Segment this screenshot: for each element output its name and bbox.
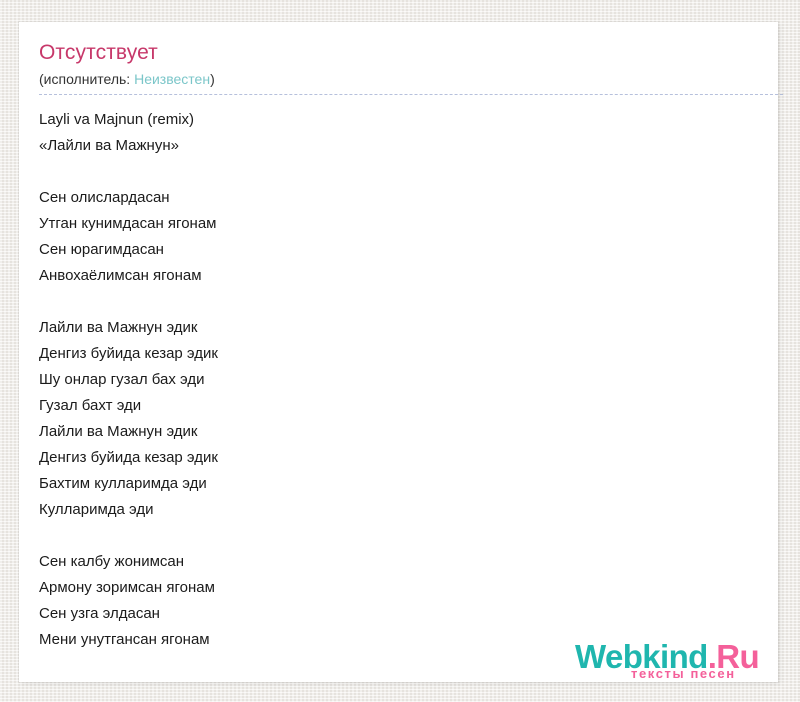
lyrics-line: Утган кунимдасан ягонам xyxy=(39,211,758,237)
header-divider xyxy=(39,94,783,95)
lyrics-content-panel: Отсутствует (исполнитель: Неизвестен) La… xyxy=(19,22,778,682)
page-root: Отсутствует (исполнитель: Неизвестен) La… xyxy=(0,0,800,702)
lyrics-verse: Сен олислардасанУтган кунимдасан ягонамС… xyxy=(39,185,758,289)
lyrics-line: Анвохаёлимсан ягонам xyxy=(39,263,758,289)
lyrics-line: Армону зоримсан ягонам xyxy=(39,575,758,601)
lyrics-line: Лайли ва Мажнун эдик xyxy=(39,315,758,341)
lyrics-line: Сен калбу жонимсан xyxy=(39,549,758,575)
song-header: Отсутствует (исполнитель: Неизвестен) xyxy=(19,22,778,89)
lyrics-line: Layli va Majnun (remix) xyxy=(39,107,758,133)
lyrics-line: Бахтим кулларимда эди xyxy=(39,471,758,497)
lyrics-line: Гузал бахт эди xyxy=(39,393,758,419)
lyrics-line: Шу онлар гузал бах эди xyxy=(39,367,758,393)
artist-line: (исполнитель: Неизвестен) xyxy=(39,70,758,89)
lyrics-verse: Layli va Majnun (remix)«Лайли ва Мажнун» xyxy=(39,107,758,159)
artist-link[interactable]: Неизвестен xyxy=(134,71,210,87)
lyrics-text: Layli va Majnun (remix)«Лайли ва Мажнун»… xyxy=(19,95,778,653)
lyrics-line: Сен олислардасан xyxy=(39,185,758,211)
lyrics-line: «Лайли ва Мажнун» xyxy=(39,133,758,159)
lyrics-line: Денгиз буйида кезар эдик xyxy=(39,341,758,367)
artist-label: (исполнитель: xyxy=(39,71,130,87)
site-watermark: Webkind.Ru тексты песен xyxy=(575,640,775,682)
lyrics-line: Кулларимда эди xyxy=(39,497,758,523)
artist-suffix: ) xyxy=(210,71,215,87)
lyrics-line: Лайли ва Мажнун эдик xyxy=(39,419,758,445)
lyrics-line: Сен юрагимдасан xyxy=(39,237,758,263)
lyrics-line: Сен узга элдасан xyxy=(39,601,758,627)
lyrics-line: Денгиз буйида кезар эдик xyxy=(39,445,758,471)
lyrics-verse: Лайли ва Мажнун эдикДенгиз буйида кезар … xyxy=(39,315,758,523)
page-title: Отсутствует xyxy=(39,40,758,66)
